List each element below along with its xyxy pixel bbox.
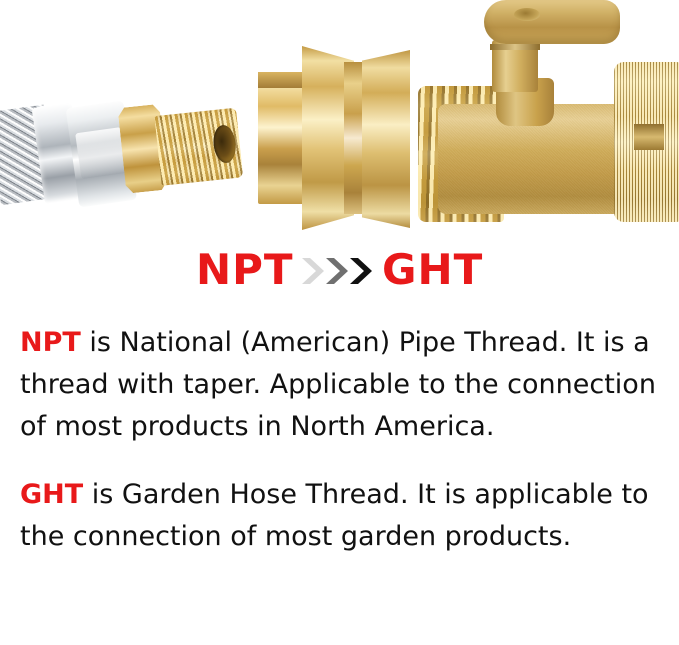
explanation-text: NPT is National (American) Pipe Thread. … — [20, 322, 670, 564]
heading-npt-label: NPT — [196, 248, 294, 292]
brass-hex-coupling — [258, 46, 410, 230]
infographic-page: NPT GHT NPT is National (American — [0, 0, 679, 645]
paragraph-npt-body: is National (American) Pipe Thread. It i… — [20, 327, 656, 442]
coupling-hex-flange-right — [362, 50, 410, 228]
npt-male-thread — [154, 108, 243, 186]
braided-hose-with-npt-male-fitting — [0, 96, 240, 204]
thread-conversion-heading: NPT GHT — [0, 248, 679, 296]
chevron-1-icon — [300, 256, 326, 286]
triple-chevron-right-icon — [300, 256, 378, 286]
product-photo-band — [0, 0, 679, 240]
valve-lever-handle — [484, 0, 620, 44]
paragraph-npt: NPT is National (American) Pipe Thread. … — [20, 322, 670, 448]
paragraph-npt-keyword: NPT — [20, 327, 81, 358]
paragraph-ght-body: is Garden Hose Thread. It is applicable … — [20, 479, 649, 552]
swivel-nut-slot — [634, 124, 664, 150]
brass-ght-shutoff-valve — [424, 0, 679, 232]
paragraph-ght: GHT is Garden Hose Thread. It is applica… — [20, 474, 670, 558]
valve-stem-ring — [490, 44, 540, 50]
chevron-2-icon — [324, 256, 350, 286]
chevron-3-icon — [348, 256, 374, 286]
coupling-barrel — [258, 72, 306, 204]
heading-ght-label: GHT — [382, 248, 483, 292]
paragraph-ght-keyword: GHT — [20, 479, 83, 510]
